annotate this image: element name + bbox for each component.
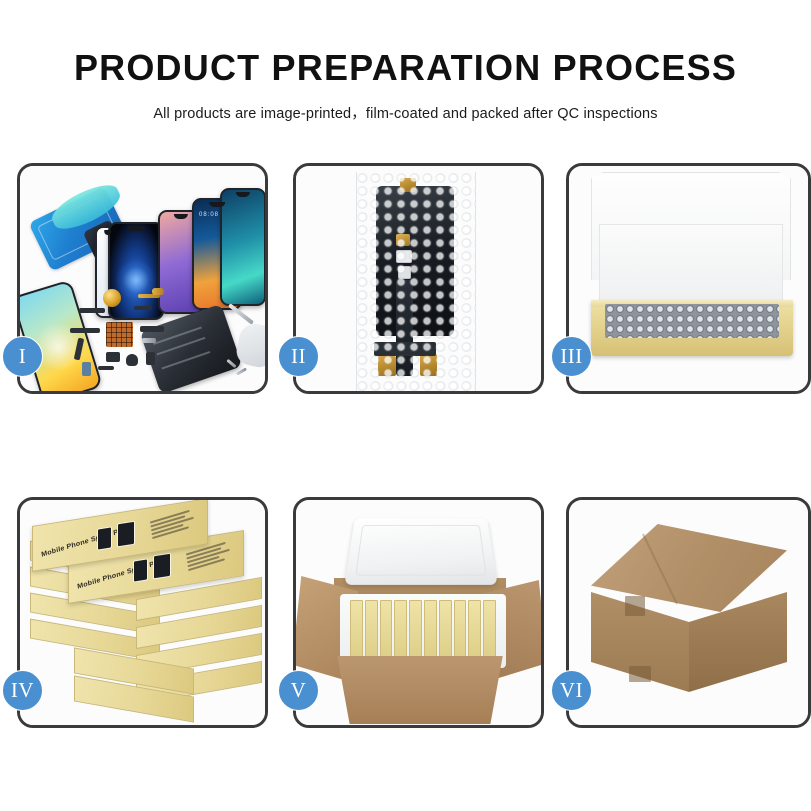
screw-b-icon [236, 367, 247, 375]
yellow-box-item [380, 600, 393, 658]
part-flex-left-icon [70, 328, 100, 333]
header: PRODUCT PREPARATION PROCESS All products… [0, 0, 811, 123]
box-phone-thumb-1b [117, 521, 135, 548]
step-badge-4: IV [2, 670, 43, 711]
box-phone-thumb-1a [97, 526, 112, 550]
page-title: PRODUCT PREPARATION PROCESS [0, 0, 811, 86]
part-chip-small-icon [106, 352, 120, 362]
part-flex-right-icon [140, 326, 164, 332]
foam-lid-icon [344, 518, 497, 585]
box-lid-face-icon [599, 224, 783, 306]
part-gold-connector-icon [152, 288, 164, 295]
carton-top-face-icon [591, 524, 787, 612]
yellow-box-item [424, 600, 437, 658]
speaker-coil-icon [103, 289, 121, 307]
step-badge-1: I [2, 336, 43, 377]
step-badge-3: III [551, 336, 592, 377]
process-steps-grid: 08:08 [17, 163, 794, 728]
yellow-box-item [350, 600, 363, 658]
part-battery-icon [146, 352, 155, 365]
process-step-card-5: V [293, 497, 544, 728]
box-text-lines-1 [150, 508, 200, 542]
bubble-texture-overlay [356, 172, 476, 391]
carton-tape-upper-icon [625, 596, 645, 616]
step-4-image: Mobile Phone Spare Parts Mobile Phone Sp… [20, 500, 265, 725]
process-step-card-4: Mobile Phone Spare Parts Mobile Phone Sp… [17, 497, 268, 728]
part-cable-icon [134, 306, 152, 310]
carton-tape-lower-icon [629, 666, 651, 682]
chip-grid-icon [106, 322, 133, 347]
process-step-card-3: III [566, 163, 811, 394]
tweezers-icon [228, 303, 254, 325]
process-step-card-1: 08:08 [17, 163, 268, 394]
phone-teal-icon [220, 188, 265, 306]
box-phone-thumb-2a [133, 558, 148, 582]
kraft-box-tray-icon [591, 300, 793, 356]
process-step-card-6: VI [566, 497, 811, 728]
yellow-boxes-row-icon [350, 600, 496, 658]
product-preparation-process-infographic: PRODUCT PREPARATION PROCESS All products… [0, 0, 811, 811]
step-badge-5: V [278, 670, 319, 711]
part-silver-icon [142, 338, 156, 343]
yellow-box-item [439, 600, 452, 658]
part-module-icon [82, 362, 91, 376]
part-speaker-icon [126, 354, 138, 366]
yellow-box-item [483, 600, 496, 658]
box-phone-thumb-2b [153, 553, 171, 580]
page-subtitle: All products are image-printed，film-coat… [0, 86, 811, 123]
step-2-image [296, 166, 541, 391]
step-badge-6: VI [551, 670, 592, 711]
yellow-box-item [454, 600, 467, 658]
process-step-card-2: II [293, 163, 544, 394]
yellow-box-item [365, 600, 378, 658]
carton-front-wall-icon [332, 656, 508, 724]
yellow-box-item [409, 600, 422, 658]
step-3-image [569, 166, 808, 391]
bubble-wrapped-contents-icon [605, 304, 779, 338]
step-badge-2: II [278, 336, 319, 377]
box-stack-icon: Mobile Phone Spare Parts Mobile Phone Sp… [26, 508, 264, 722]
yellow-box-item [468, 600, 481, 658]
yellow-box-item [394, 600, 407, 658]
step-1-image: 08:08 [20, 166, 265, 391]
part-bar-icon [79, 308, 105, 313]
phone-time-label: 08:08 [199, 212, 219, 218]
phone-parts-scene: 08:08 [20, 166, 265, 391]
step-6-image [569, 500, 808, 725]
part-small-bar-icon [98, 366, 114, 370]
step-5-image [296, 500, 541, 725]
